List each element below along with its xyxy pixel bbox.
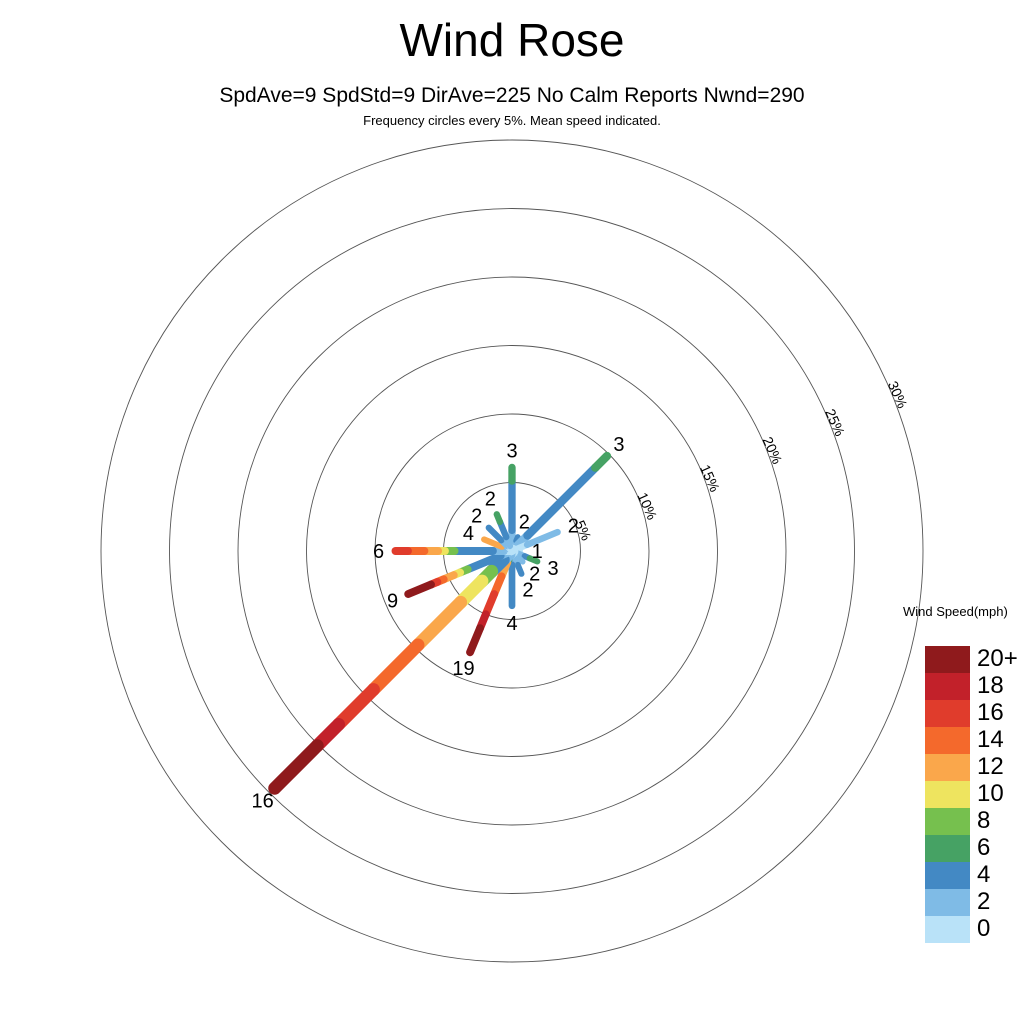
petal-segment: [339, 690, 374, 725]
legend-row: 6: [925, 835, 970, 862]
legend-row: 14: [925, 727, 970, 754]
petal-mean-speed-label: 16: [252, 790, 274, 812]
legend-row: 10: [925, 781, 970, 808]
legend-row: 4: [925, 862, 970, 889]
legend-label: 4: [977, 861, 1024, 889]
legend-color-swatch: [925, 862, 970, 889]
petal-mean-speed-label: 2: [485, 489, 496, 511]
legend-label: 20+: [977, 645, 1024, 673]
legend-color-swatch: [925, 808, 970, 835]
ring-tick-label: 25%: [822, 406, 848, 438]
legend-color-swatch: [925, 916, 970, 943]
ring-tick-label: 10%: [634, 490, 660, 522]
petal-segment: [595, 456, 607, 468]
petal-mean-speed-label: 2: [568, 516, 579, 538]
petal-mean-speed-label: 2: [522, 579, 533, 601]
wind-rose-page: Wind Rose SpdAve=9 SpdStd=9 DirAve=225 N…: [0, 0, 1024, 1024]
petal-segment: [408, 585, 431, 594]
petal-mean-speed-label: 19: [452, 658, 474, 680]
legend-color-swatch: [925, 889, 970, 916]
petal-mean-speed-label: 3: [613, 434, 624, 456]
petal-mean-speed-label: 1: [532, 541, 543, 563]
legend-row: 18: [925, 673, 970, 700]
ring-tick-label: 15%: [697, 462, 723, 494]
petal-segment: [518, 565, 522, 574]
legend-row: 12: [925, 754, 970, 781]
legend-row: 2: [925, 889, 970, 916]
legend-row: 0: [925, 916, 970, 943]
legend-color-swatch: [925, 835, 970, 862]
legend-label: 2: [977, 888, 1024, 916]
ring-tick-labels: 5%10%15%20%25%30%: [572, 379, 911, 543]
legend-label: 14: [977, 726, 1024, 754]
legend-color-swatch: [925, 781, 970, 808]
legend-title: Wind Speed(mph): [903, 604, 1008, 619]
petal-mean-speed-label: 6: [373, 541, 384, 563]
petal-mean-speed-label: 2: [519, 511, 530, 533]
wind-speed-legend: 20+181614121086420: [925, 646, 970, 943]
legend-label: 6: [977, 834, 1024, 862]
petal-mean-speed-label: 2: [471, 506, 482, 528]
legend-color-swatch: [925, 727, 970, 754]
legend-color-swatch: [925, 646, 970, 673]
legend-label: 12: [977, 753, 1024, 781]
legend-row: 16: [925, 700, 970, 727]
petal-mean-speed-label: 3: [547, 558, 558, 580]
petal-mean-speed-label: 4: [506, 613, 517, 635]
legend-label: 10: [977, 780, 1024, 808]
legend-row: 8: [925, 808, 970, 835]
ring-tick-label: 20%: [760, 434, 786, 466]
wind-rose-plot: 5%10%15%20%25%30% 323213224191696422: [0, 0, 1024, 1024]
petal-segment: [470, 628, 480, 652]
petal-segment: [275, 746, 318, 789]
legend-color-swatch: [925, 673, 970, 700]
legend-color-swatch: [925, 754, 970, 781]
legend-label: 16: [977, 699, 1024, 727]
ring-tick-label: 30%: [885, 379, 911, 411]
petal-mean-speed-label: 3: [506, 440, 517, 462]
wind-petals: [275, 456, 607, 788]
legend-label: 8: [977, 807, 1024, 835]
legend-color-swatch: [925, 700, 970, 727]
petal-segment: [373, 645, 418, 690]
petal-segment: [418, 602, 461, 645]
legend-label: 0: [977, 915, 1024, 943]
petal-segment: [489, 528, 502, 541]
legend-row: 20+: [925, 646, 970, 673]
legend-label: 18: [977, 672, 1024, 700]
petal-mean-speed-label: 9: [387, 590, 398, 612]
petal-segment: [497, 514, 500, 522]
